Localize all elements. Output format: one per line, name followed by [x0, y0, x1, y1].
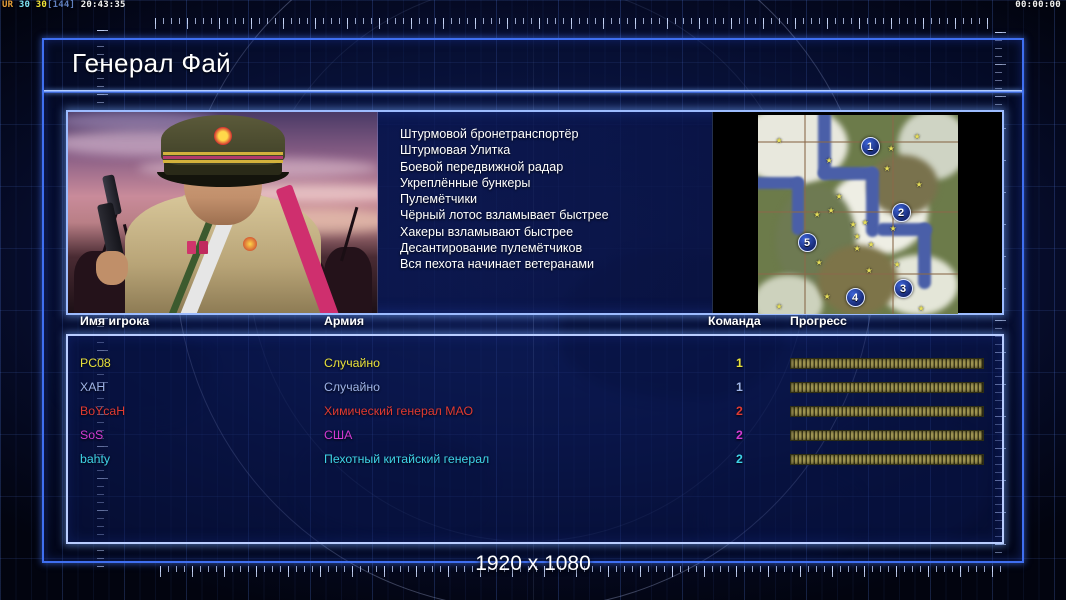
column-header-progress: Прогресс	[790, 314, 847, 328]
ability-item: Хакеры взламывают быстрее	[400, 224, 702, 240]
minimap-start-position-5[interactable]: 5	[798, 233, 817, 252]
perf-value-2: 30	[36, 0, 47, 10]
title-band: Генерал Фай	[44, 40, 1022, 90]
ability-item: Укреплённые бункеры	[400, 175, 702, 191]
player-name: SoS	[80, 428, 103, 442]
page-title: Генерал Фай	[72, 48, 231, 79]
player-progress-bar	[790, 430, 984, 441]
general-portrait	[68, 112, 378, 313]
player-army: Случайно	[324, 380, 380, 394]
resolution-caption: 1920 x 1080	[0, 552, 1066, 576]
abilities-list: Штурмовой бронетранспортёр Штурмовая Ули…	[378, 112, 712, 313]
minimap-container: ★ ★ ★ ★ ★ ★ ★ ★ ★ ★ ★ ★ ★ ★ ★ ★ ★ ★ ★ ★	[712, 112, 1002, 313]
ability-item: Вся пехота начинает ветеранами	[400, 256, 702, 272]
player-name: XAH	[80, 380, 105, 394]
ability-item: Чёрный лотос взламывает быстрее	[400, 207, 702, 223]
player-table-panel: Имя игрока Армия Команда Прогресс PC08 С…	[66, 334, 1004, 544]
ability-item: Боевой передвижной радар	[400, 159, 702, 175]
ability-item: Штурмовая Улитка	[400, 142, 702, 158]
progress-fill	[791, 455, 983, 464]
minimap-start-position-1[interactable]: 1	[861, 137, 880, 156]
player-progress-bar	[790, 382, 984, 393]
perf-label: UR	[2, 0, 13, 10]
player-table-header: Имя игрока Армия Команда Прогресс	[68, 314, 1002, 336]
player-army: Химический генерал МАО	[324, 404, 473, 418]
minimap-start-position-3[interactable]: 3	[894, 279, 913, 298]
player-team: 2	[736, 452, 743, 466]
player-progress-bar	[790, 358, 984, 369]
table-row[interactable]: BoYcaH Химический генерал МАО 2	[68, 404, 1002, 428]
title-divider	[44, 90, 1022, 93]
ability-item: Десантирование пулемётчиков	[400, 240, 702, 256]
progress-fill	[791, 407, 983, 416]
progress-fill	[791, 383, 983, 392]
general-hand	[96, 251, 128, 285]
table-row[interactable]: XAH Случайно 1	[68, 380, 1002, 404]
column-header-army: Армия	[324, 314, 364, 328]
table-row[interactable]: SoS США 2	[68, 428, 1002, 452]
lobby-frame: Генерал Фай	[42, 38, 1024, 563]
player-army: США	[324, 428, 352, 442]
player-progress-bar	[790, 406, 984, 417]
progress-fill	[791, 431, 983, 440]
column-header-name: Имя игрока	[80, 314, 149, 328]
player-team: 1	[736, 356, 743, 370]
player-name: BoYcaH	[80, 404, 125, 418]
player-team: 2	[736, 404, 743, 418]
minimap-start-position-2[interactable]: 2	[892, 203, 911, 222]
ability-item: Штурмовой бронетранспортёр	[400, 126, 702, 142]
cap-emblem-icon	[214, 127, 232, 145]
table-row[interactable]: bahty Пехотный китайский генерал 2	[68, 452, 1002, 476]
hud-clock: 20:43:35	[81, 0, 126, 10]
table-row[interactable]: PC08 Случайно 1	[68, 356, 1002, 380]
performance-readout: UR 30 30[144] 20:43:35	[2, 0, 126, 11]
minimap-preview[interactable]: ★ ★ ★ ★ ★ ★ ★ ★ ★ ★ ★ ★ ★ ★ ★ ★ ★ ★ ★ ★	[758, 115, 958, 314]
player-name: PC08	[80, 356, 111, 370]
player-army: Случайно	[324, 356, 380, 370]
player-team: 2	[736, 428, 743, 442]
minimap-start-position-4[interactable]: 4	[846, 288, 865, 307]
perf-value-1: 30	[19, 0, 30, 10]
general-info-panel: Штурмовой бронетранспортёр Штурмовая Ули…	[66, 110, 1004, 315]
hud-top-bar: UR 30 30[144] 20:43:35 00:00:00	[0, 0, 1066, 12]
player-team: 1	[736, 380, 743, 394]
player-name: bahty	[80, 452, 110, 466]
ability-item: Пулемётчики	[400, 191, 702, 207]
match-timer: 00:00:00	[1015, 0, 1061, 11]
perf-value-3: [144]	[47, 0, 75, 10]
player-progress-bar	[790, 454, 984, 465]
ruler-top	[155, 18, 994, 31]
player-army: Пехотный китайский генерал	[324, 452, 489, 466]
progress-fill	[791, 359, 983, 368]
column-header-team: Команда	[708, 314, 761, 328]
